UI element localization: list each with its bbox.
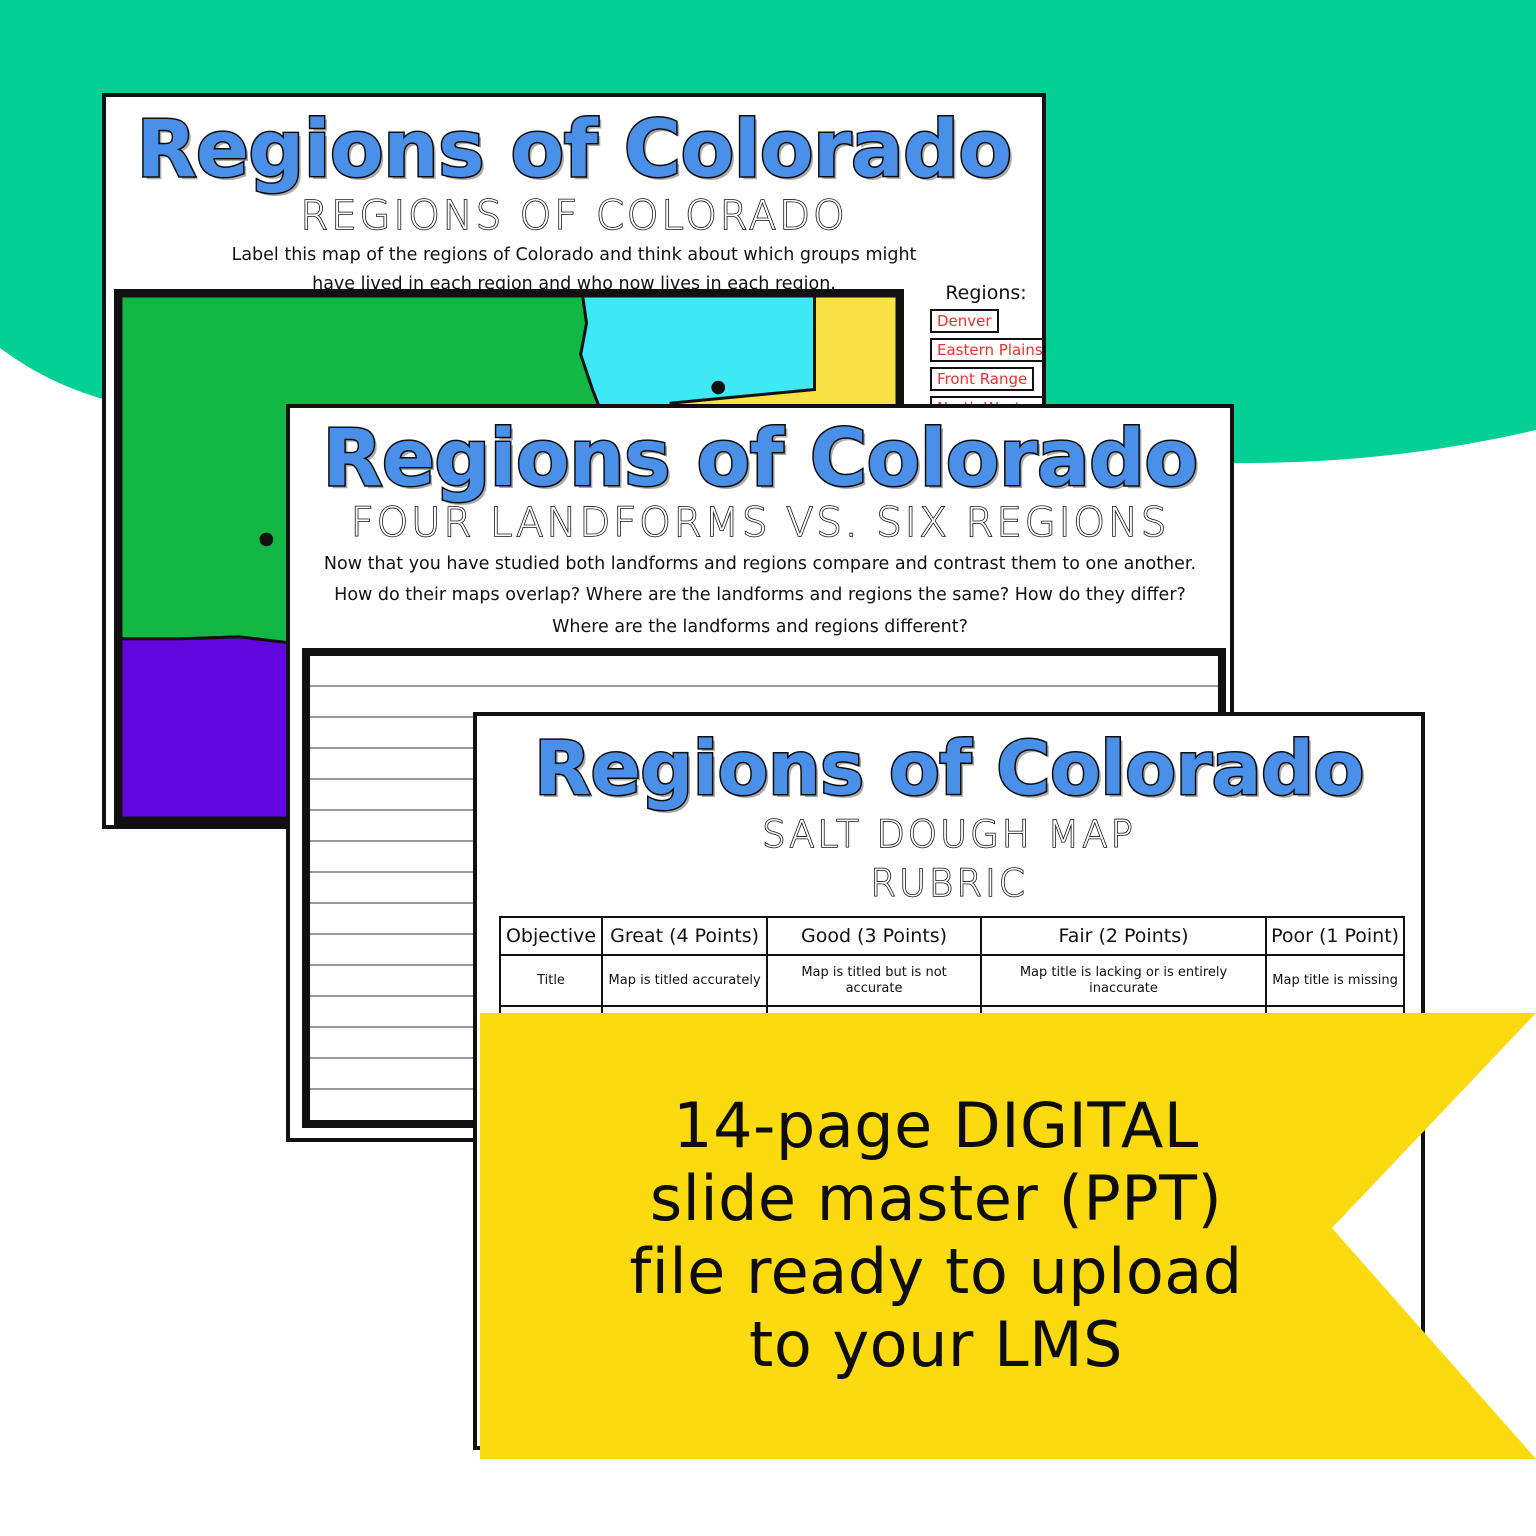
legend-chip-denver[interactable]: Denver [930, 309, 999, 333]
rubric-cell-poor: Map title is missing [1266, 955, 1404, 1006]
map-marker-dot [711, 381, 725, 395]
rubric-row: TitleMap is titled accuratelyMap is titl… [500, 955, 1404, 1006]
rubric-cell-great: Map is titled accurately [602, 955, 767, 1006]
rubric-header-row: ObjectiveGreat (4 Points)Good (3 Points)… [500, 917, 1404, 955]
banner-line-2: slide master (PPT) [650, 1162, 1222, 1235]
legend-title: Regions: [930, 282, 1042, 304]
slide3-heading-line1: SALT DOUGH MAP [477, 816, 1421, 855]
rubric-cell-good: Map is titled but is not accurate [767, 955, 981, 1006]
legend-chip-front-range[interactable]: Front Range [930, 367, 1034, 391]
banner-line-4: to your LMS [749, 1308, 1123, 1381]
slide2-heading: FOUR LANDFORMS VS. SIX REGIONS [290, 502, 1230, 544]
rubric-header-cell: Good (3 Points) [767, 917, 981, 955]
rubric-header-cell: Objective [500, 917, 602, 955]
slide2-prompt-line1: Now that you have studied both landforms… [290, 554, 1230, 575]
rubric-header-cell: Poor (1 Point) [1266, 917, 1404, 955]
slide2-prompt-line2: How do their maps overlap? Where are the… [290, 585, 1230, 606]
slide1-brand-title: Regions of Colorado [106, 111, 1042, 189]
slide1-heading: REGIONS OF COLORADO [106, 195, 1042, 237]
slide2-brand-title: Regions of Colorado [290, 420, 1230, 498]
rubric-header-cell: Great (4 Points) [602, 917, 767, 955]
banner-line-3: file ready to upload [629, 1235, 1242, 1308]
legend-chip-eastern-plains[interactable]: Eastern Plains [930, 338, 1046, 362]
slide3-heading-line2: RUBRIC [477, 865, 1421, 904]
slide2-prompt-line3: Where are the landforms and regions diff… [290, 617, 1230, 638]
banner-line-1: 14-page DIGITAL [673, 1089, 1199, 1162]
promo-canvas: Regions of Colorado REGIONS OF COLORADO … [0, 0, 1536, 1536]
slide1-instructions-line1: Label this map of the regions of Colorad… [106, 245, 1042, 266]
slide3-brand-title: Regions of Colorado [477, 732, 1421, 806]
rubric-header-cell: Fair (2 Points) [981, 917, 1266, 955]
banner-text-block: 14-page DIGITAL slide master (PPT) file … [496, 1025, 1376, 1445]
map-marker-dot [260, 533, 274, 547]
rubric-cell-objective: Title [500, 955, 602, 1006]
answer-line[interactable] [310, 656, 1218, 687]
rubric-cell-fair: Map title is lacking or is entirely inac… [981, 955, 1266, 1006]
